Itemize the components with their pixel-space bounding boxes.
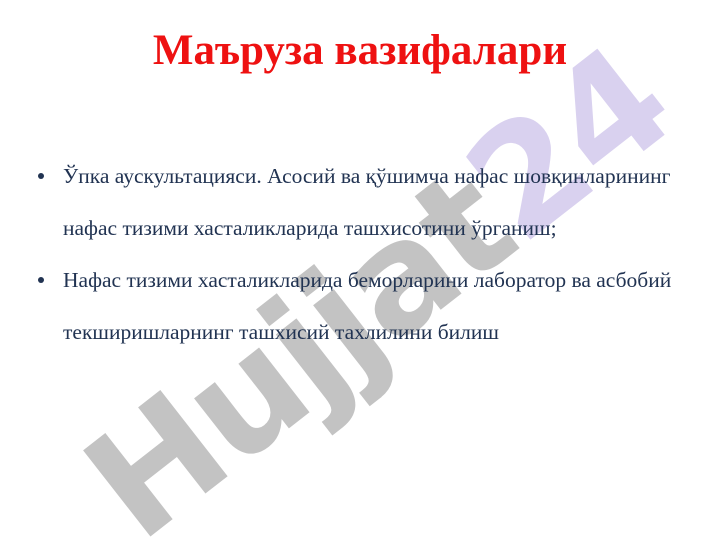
presentation-slide: Hujjat24 Маъруза вазифалари Ўпка аускуль… [0,0,720,540]
list-item: Ўпка аускультацияси. Асосий ва қўшимча н… [30,150,698,254]
list-item: Нафас тизими хасталикларида беморларини … [30,254,698,358]
slide-body-bullet-list: Ўпка аускультацияси. Асосий ва қўшимча н… [30,150,698,358]
bullet-text: Ўпка аускультацияси. Асосий ва қўшимча н… [63,150,698,254]
slide-title: Маъруза вазифалари [0,26,720,77]
bullet-dot-icon [38,277,44,283]
bullet-text: Нафас тизими хасталикларида беморларини … [63,254,698,358]
bullet-dot-icon [38,173,44,179]
